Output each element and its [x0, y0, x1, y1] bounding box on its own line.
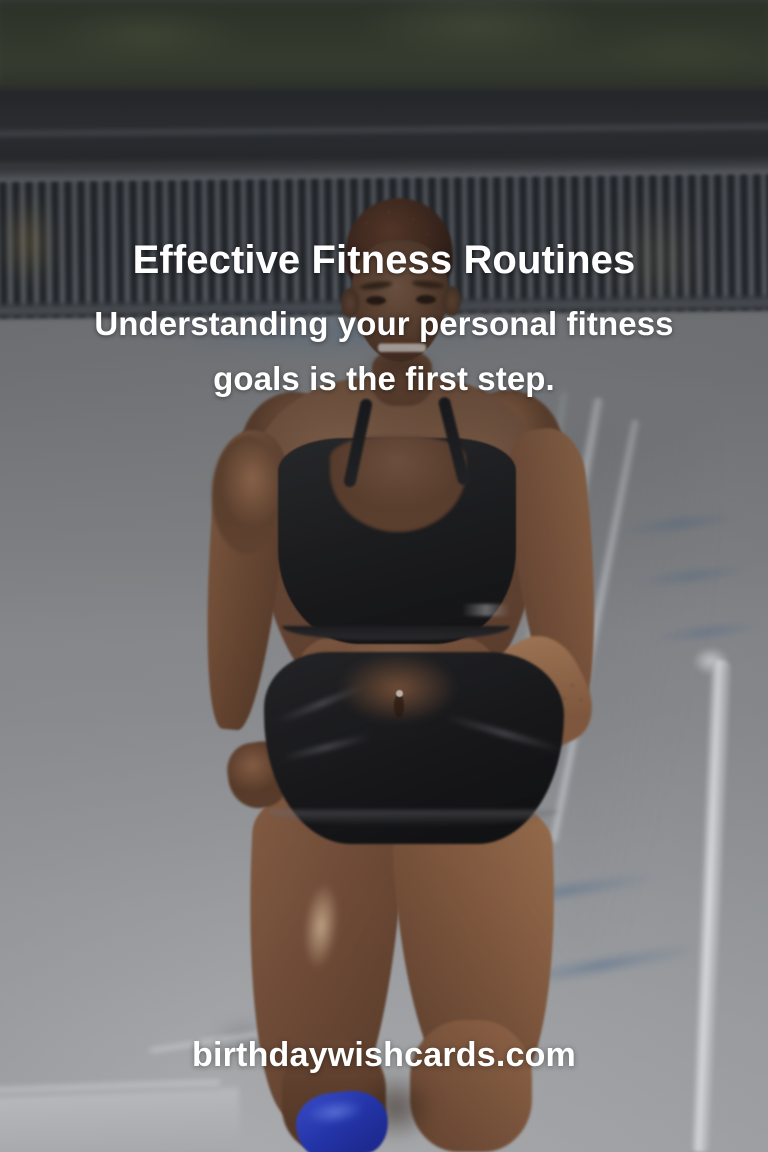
sports-bra-logo	[462, 604, 510, 616]
page-title: Effective Fitness Routines	[56, 238, 712, 283]
left-bicep	[212, 436, 284, 554]
navel	[394, 694, 404, 718]
subtitle: Understanding your personal fitness goal…	[94, 297, 674, 407]
background-photo	[0, 0, 768, 1152]
watermark-site-url: birthdaywishcards.com	[0, 1036, 768, 1075]
fitness-quote-card: Effective Fitness Routines Understanding…	[0, 0, 768, 1152]
text-block: Effective Fitness Routines Understanding…	[0, 238, 768, 406]
navel-piercing	[396, 690, 403, 697]
runner-figure	[0, 0, 768, 1152]
